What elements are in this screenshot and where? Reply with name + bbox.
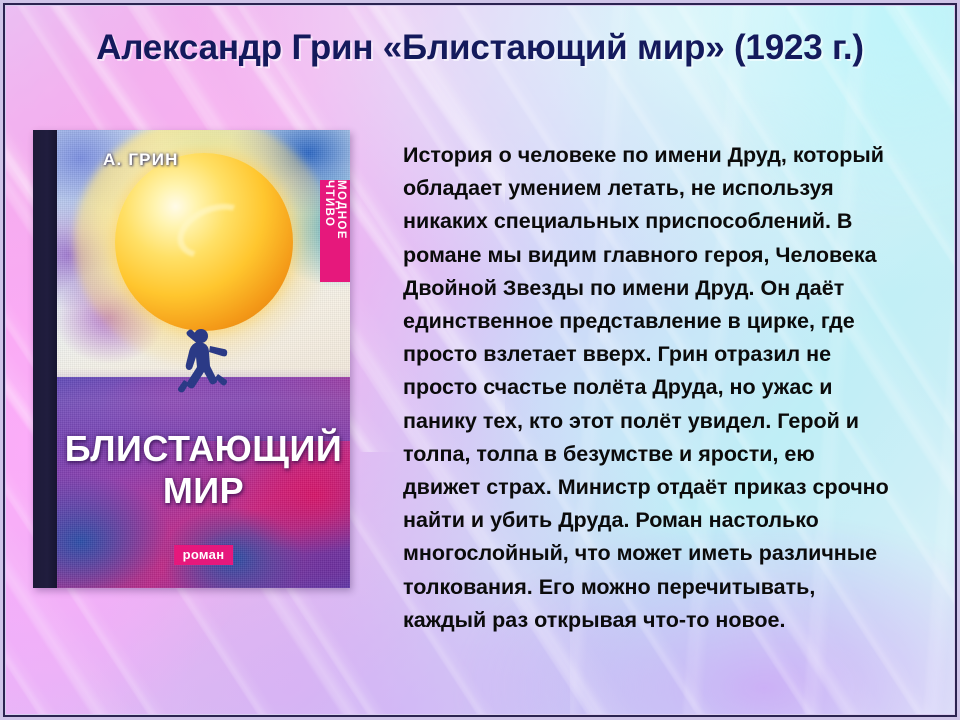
- slide-title: Александр Грин «Блистающий мир» (1923 г.…: [0, 28, 960, 68]
- leaping-figure-icon: [171, 326, 237, 394]
- slide: Александр Грин «Блистающий мир» (1923 г.…: [0, 0, 960, 720]
- sun-swirl-highlight: [170, 194, 259, 269]
- book-spine: [33, 130, 57, 588]
- book-front-face: А. ГРИН МОДНОЕ ЧТИВО БЛИСТАЮЩИЙ МИР рома…: [57, 130, 350, 588]
- cover-title-line2: МИР: [57, 470, 350, 512]
- cover-author-name: А. ГРИН: [103, 150, 179, 170]
- cover-series-badge: МОДНОЕ ЧТИВО: [320, 180, 350, 282]
- cover-series-badge-label: МОДНОЕ ЧТИВО: [323, 180, 347, 282]
- cover-title-line1: БЛИСТАЮЩИЙ: [65, 428, 343, 469]
- book-cover-image: А. ГРИН МОДНОЕ ЧТИВО БЛИСТАЮЩИЙ МИР рома…: [33, 130, 350, 588]
- cover-title: БЛИСТАЮЩИЙ МИР: [57, 428, 350, 512]
- cover-genre-badge: роман: [174, 545, 234, 565]
- slide-body-text: История о человеке по имени Друд, которы…: [403, 139, 893, 637]
- sun-icon: [115, 153, 293, 331]
